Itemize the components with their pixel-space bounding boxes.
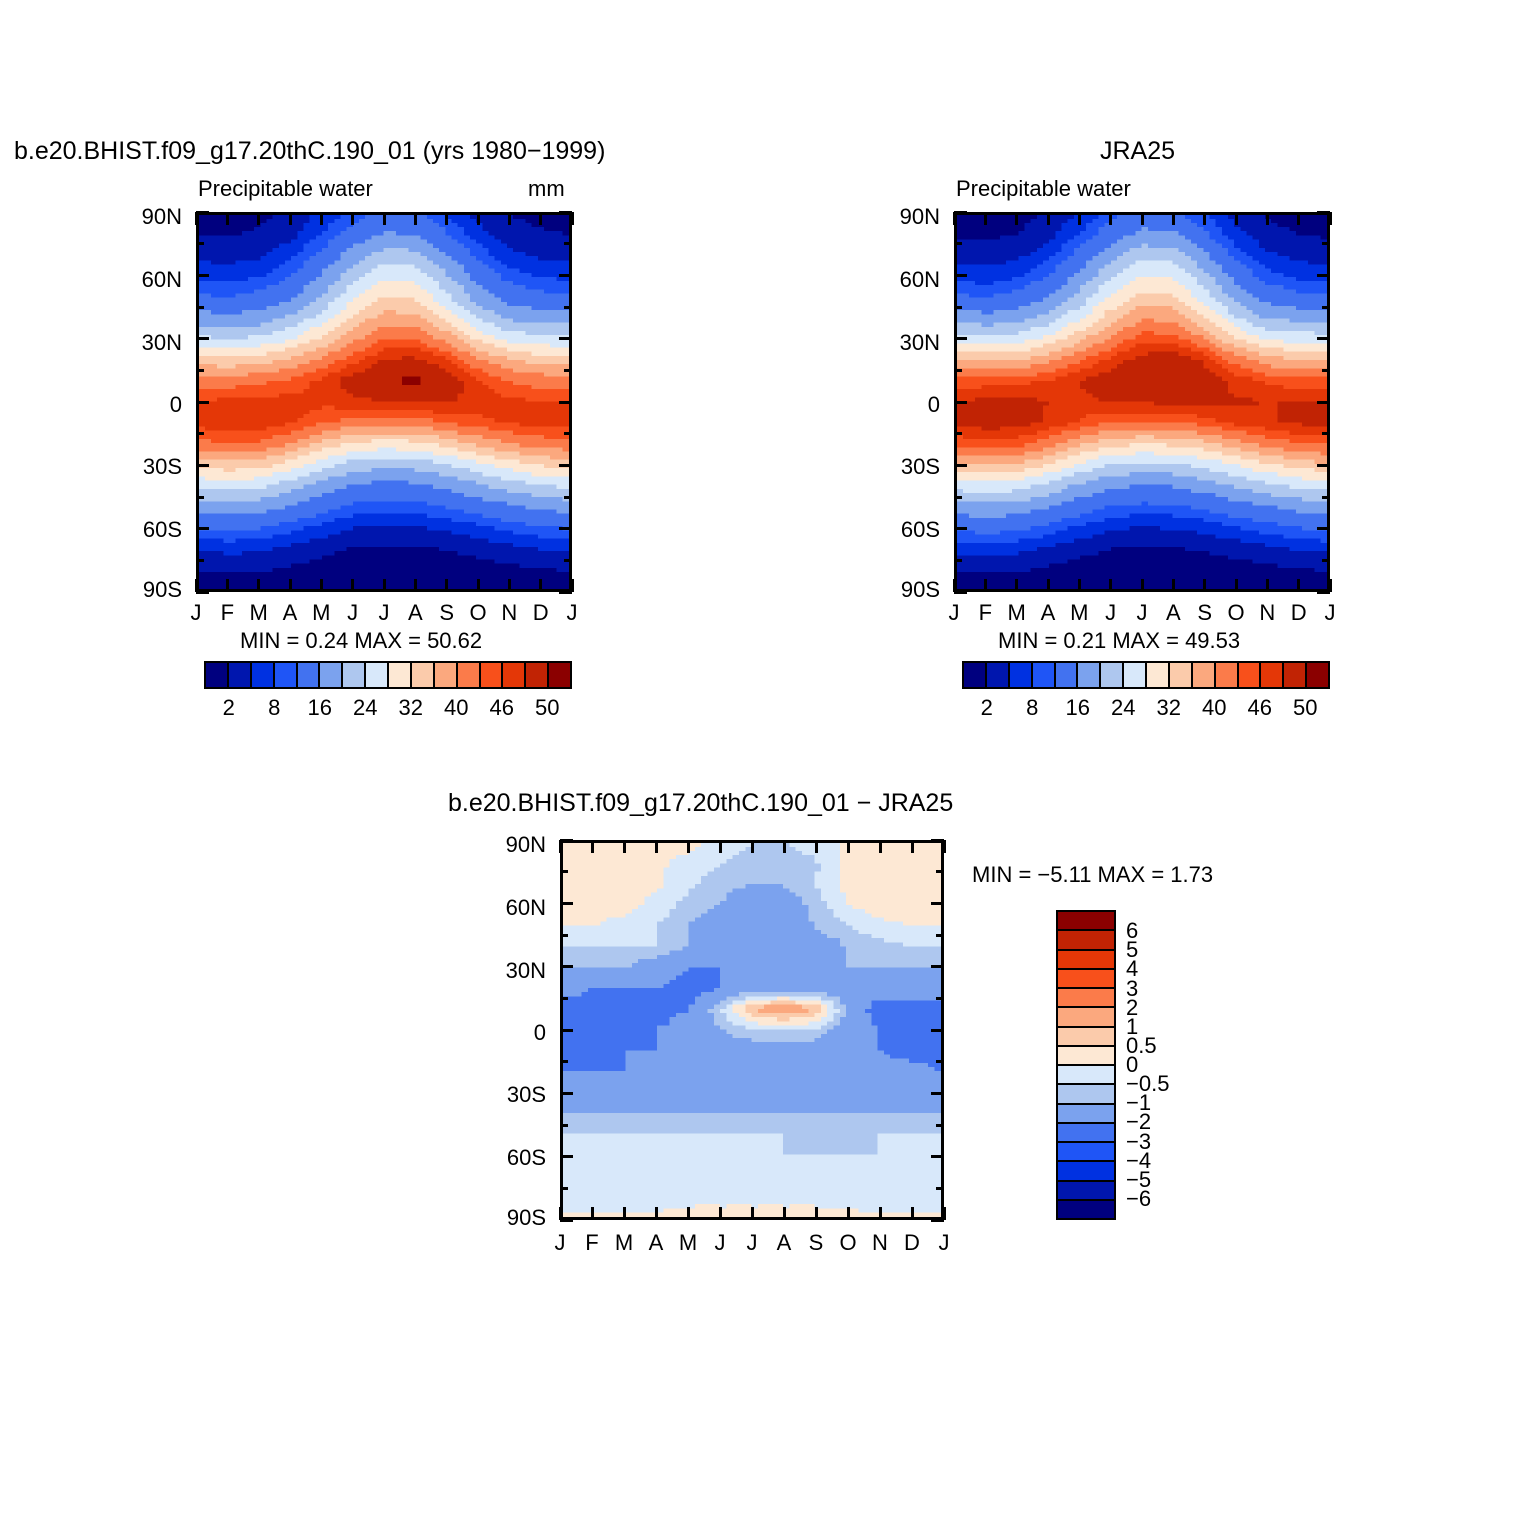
axis-tick-minor [936,934,944,937]
colorbar-cell [1058,1085,1114,1104]
colorbar-cell [366,663,389,687]
xtick-label: M [1070,600,1088,626]
colorbar-cell [1058,1182,1114,1201]
axis-tick [539,212,542,225]
axis-tick [953,212,956,225]
colorbar-cell [1193,663,1216,687]
axis-tick [954,337,967,340]
colorbar-obs[interactable] [962,661,1330,689]
axis-tick [879,1207,882,1220]
axis-tick [984,212,987,225]
ytick-label: 30N [484,958,546,984]
ytick-label: 0 [120,392,182,418]
axis-tick [911,840,914,853]
colorbar-cell [343,663,366,687]
axis-tick [195,212,198,225]
ytick-label: 0 [878,392,940,418]
axis-tick [559,464,572,467]
axis-tick [931,1155,944,1158]
ytick-label: 90S [484,1205,546,1231]
colorbar-tick-label: 16 [1066,695,1090,721]
ytick-label: 30N [878,330,940,356]
colorbar-tick-label: 2 [981,695,993,721]
plot-area-obs[interactable] [954,212,1330,592]
ytick-label: 60N [484,895,546,921]
axis-tick-minor [196,306,204,309]
axis-tick [783,840,786,853]
axis-tick [477,212,480,225]
axis-tick [560,839,573,842]
colorbar-cell [298,663,321,687]
colorbar-cell [1216,663,1239,687]
axis-tick [320,212,323,225]
axis-tick [196,337,209,340]
ytick-label: 60N [120,267,182,293]
axis-tick-minor [196,432,204,435]
axis-tick [954,591,967,594]
axis-tick [1015,579,1018,592]
panel-model-subtitle: Precipitable water [198,176,373,202]
axis-tick [196,527,209,530]
panel-obs-subtitle: Precipitable water [956,176,1131,202]
panel-model-units: mm [528,176,565,202]
axis-tick [623,840,626,853]
xtick-label: M [249,600,267,626]
xtick-label: J [191,600,202,626]
axis-tick-minor [196,369,204,372]
colorbar-cell [412,663,435,687]
colorbar-cell [389,663,412,687]
axis-tick [1047,212,1050,225]
axis-tick-minor [954,432,962,435]
minmax-obs: MIN = 0.21 MAX = 49.53 [998,628,1240,654]
colorbar-cell [1058,1124,1114,1143]
axis-tick [257,579,260,592]
axis-tick [559,527,572,530]
xtick-label: O [839,1230,856,1256]
xtick-label: S [809,1230,824,1256]
colorbar-tick-label: 40 [444,695,468,721]
colorbar-cell [549,663,570,687]
colorbar-tick-label: 8 [1026,695,1038,721]
ytick-label: 30N [120,330,182,356]
colorbar-cell [1170,663,1193,687]
axis-tick [560,1029,573,1032]
colorbar-cell [1058,931,1114,950]
ytick-label: 30S [484,1082,546,1108]
panel-diff-title: b.e20.BHIST.f09_g17.20thC.190_01 − JRA25 [448,789,953,818]
xtick-label: N [872,1230,888,1256]
colorbar-cell [1058,1066,1114,1085]
axis-tick [1141,212,1144,225]
colorbar-tick-label: 50 [1293,695,1317,721]
axis-tick [931,1219,944,1222]
axis-tick [623,1207,626,1220]
colorbar-cell [1058,951,1114,970]
colorbar-cell [1058,989,1114,1008]
colorbar-cell [503,663,526,687]
axis-tick-minor [1322,242,1330,245]
axis-tick [931,1029,944,1032]
colorbar-tick-label: 8 [268,695,280,721]
axis-tick-minor [1322,432,1330,435]
colorbar-tick-label: 16 [308,695,332,721]
xtick-label: A [1041,600,1056,626]
axis-tick [931,1092,944,1095]
axis-tick [289,579,292,592]
xtick-label: O [469,600,486,626]
colorbar-cell [1307,663,1328,687]
colorbar-cell [964,663,987,687]
colorbar-cell [1033,663,1056,687]
axis-tick-minor [954,306,962,309]
axis-tick-minor [936,997,944,1000]
axis-tick [414,579,417,592]
xtick-label: J [347,600,358,626]
panel-obs-title: JRA25 [1100,137,1175,166]
minmax-diff: MIN = −5.11 MAX = 1.73 [972,862,1213,888]
colorbar-cell [1058,1047,1114,1066]
ytick-label: 30S [878,454,940,480]
colorbar-diff[interactable] [1056,910,1116,1220]
contour-field-diff [563,843,941,1217]
ytick-label: 90S [878,577,940,603]
axis-tick [559,337,572,340]
xtick-label: F [979,600,992,626]
axis-tick [320,579,323,592]
axis-tick [847,1207,850,1220]
colorbar-model[interactable] [204,661,572,689]
xtick-label: M [1007,600,1025,626]
axis-tick [1078,212,1081,225]
colorbar-cell [1124,663,1147,687]
axis-tick [1047,579,1050,592]
axis-tick [1235,579,1238,592]
axis-tick-minor [936,1187,944,1190]
axis-tick [954,401,967,404]
axis-tick [815,840,818,853]
axis-tick [560,1092,573,1095]
axis-tick [196,211,209,214]
axis-tick [1317,401,1330,404]
axis-tick [559,840,562,853]
xtick-label: A [283,600,298,626]
axis-tick [687,840,690,853]
axis-tick [477,579,480,592]
xtick-label: A [408,600,423,626]
axis-tick [815,1207,818,1220]
colorbar-tick-label: 32 [399,695,423,721]
axis-tick [383,212,386,225]
xtick-label: J [715,1230,726,1256]
colorbar-cell [481,663,504,687]
colorbar-cell [1058,912,1114,931]
axis-tick [719,840,722,853]
axis-tick [751,1207,754,1220]
colorbar-cell [252,663,275,687]
axis-tick [751,840,754,853]
axis-tick-minor [936,1124,944,1127]
colorbar-tick-label: 40 [1202,695,1226,721]
axis-tick-minor [954,242,962,245]
colorbar-cell [1058,1201,1114,1218]
axis-tick [1141,579,1144,592]
colorbar-cell [206,663,229,687]
axis-tick-minor [560,997,568,1000]
axis-tick [719,1207,722,1220]
axis-tick [351,212,354,225]
axis-tick [560,1155,573,1158]
colorbar-cell [1261,663,1284,687]
xtick-label: A [777,1230,792,1256]
axis-tick [508,579,511,592]
xtick-label: J [1325,600,1336,626]
axis-tick [1317,211,1330,214]
xtick-label: M [615,1230,633,1256]
axis-tick-minor [1322,496,1330,499]
axis-tick [1109,579,1112,592]
axis-tick-minor [564,496,572,499]
xtick-label: A [649,1230,664,1256]
ytick-label: 60S [878,517,940,543]
axis-tick [1317,527,1330,530]
ytick-label: 60N [878,267,940,293]
axis-tick [539,579,542,592]
ytick-label: 90N [484,832,546,858]
plot-area-diff[interactable] [560,840,944,1220]
ytick-label: 90N [878,204,940,230]
axis-tick [1297,579,1300,592]
colorbar-cell [1058,1162,1114,1181]
colorbar-cell [1058,1028,1114,1047]
axis-tick [196,401,209,404]
axis-tick [226,212,229,225]
colorbar-cell [987,663,1010,687]
colorbar-tick-label: 24 [1111,695,1135,721]
axis-tick [196,591,209,594]
axis-tick-minor [954,559,962,562]
colorbar-cell [320,663,343,687]
xtick-label: J [567,600,578,626]
axis-tick [257,212,260,225]
axis-tick [196,464,209,467]
axis-tick-minor [936,870,944,873]
axis-tick [783,1207,786,1220]
axis-tick-minor [560,1124,568,1127]
axis-tick [1317,464,1330,467]
colorbar-tick-label: 50 [535,695,559,721]
colorbar-cell [1239,663,1262,687]
axis-tick [1078,579,1081,592]
xtick-label: F [221,600,234,626]
axis-tick [931,965,944,968]
colorbar-cell [1078,663,1101,687]
axis-tick [445,579,448,592]
xtick-label: F [585,1230,598,1256]
axis-tick [196,274,209,277]
axis-tick [1317,337,1330,340]
axis-tick [1317,591,1330,594]
axis-tick [559,211,572,214]
axis-tick-minor [196,559,204,562]
axis-tick-minor [954,496,962,499]
axis-tick [687,1207,690,1220]
axis-tick [1015,212,1018,225]
axis-tick [911,1207,914,1220]
axis-tick [1297,212,1300,225]
ytick-label: 0 [484,1020,546,1046]
axis-tick [226,579,229,592]
colorbar-cell [1058,1143,1114,1162]
axis-tick [559,274,572,277]
axis-tick-minor [564,369,572,372]
panel-model-title: b.e20.BHIST.f09_g17.20thC.190_01 (yrs 19… [14,137,605,166]
colorbar-cell [1058,970,1114,989]
axis-tick [655,1207,658,1220]
ytick-label: 30S [120,454,182,480]
colorbar-tick-label: 46 [1248,695,1272,721]
colorbar-cell [275,663,298,687]
axis-tick [1203,579,1206,592]
colorbar-cell [458,663,481,687]
xtick-label: J [939,1230,950,1256]
axis-tick [1317,274,1330,277]
axis-tick-minor [564,242,572,245]
axis-tick [1266,212,1269,225]
axis-tick-minor [196,242,204,245]
axis-tick [559,401,572,404]
axis-tick [571,212,574,225]
xtick-label: N [501,600,517,626]
colorbar-cell [229,663,252,687]
xtick-label: J [555,1230,566,1256]
ytick-label: 90S [120,577,182,603]
ytick-label: 90N [120,204,182,230]
colorbar-tick-label: −6 [1126,1186,1151,1212]
minmax-model: MIN = 0.24 MAX = 50.62 [240,628,482,654]
xtick-label: J [1105,600,1116,626]
ytick-label: 60S [120,517,182,543]
colorbar-cell [1284,663,1307,687]
axis-tick [943,840,946,853]
axis-tick [954,527,967,530]
axis-tick [1172,579,1175,592]
axis-tick-minor [560,1187,568,1190]
axis-tick [931,902,944,905]
axis-tick [1172,212,1175,225]
xtick-label: M [679,1230,697,1256]
axis-tick [1109,212,1112,225]
colorbar-tick-label: 2 [223,695,235,721]
xtick-label: A [1166,600,1181,626]
xtick-label: O [1227,600,1244,626]
contour-field-obs [957,215,1327,589]
xtick-label: D [533,600,549,626]
axis-tick [383,579,386,592]
axis-tick-minor [1322,369,1330,372]
colorbar-tick-label: 46 [490,695,514,721]
axis-tick [1235,212,1238,225]
axis-tick-minor [560,1060,568,1063]
axis-tick-minor [1322,306,1330,309]
xtick-label: D [904,1230,920,1256]
axis-tick [351,579,354,592]
colorbar-cell [1147,663,1170,687]
axis-tick [560,1219,573,1222]
plot-area-model[interactable] [196,212,572,592]
axis-tick [655,840,658,853]
colorbar-tick-label: 32 [1157,695,1181,721]
axis-tick-minor [564,432,572,435]
xtick-label: S [439,600,454,626]
axis-tick [508,212,511,225]
xtick-label: J [747,1230,758,1256]
axis-tick [445,212,448,225]
axis-tick-minor [560,870,568,873]
xtick-label: N [1259,600,1275,626]
axis-tick [1266,579,1269,592]
axis-tick-minor [196,496,204,499]
xtick-label: J [1137,600,1148,626]
axis-tick [984,579,987,592]
colorbar-cell [1010,663,1033,687]
colorbar-cell [1056,663,1079,687]
contour-field-model [199,215,569,589]
axis-tick [847,840,850,853]
axis-tick [414,212,417,225]
axis-tick [591,840,594,853]
axis-tick [931,839,944,842]
axis-tick [560,965,573,968]
axis-tick-minor [560,934,568,937]
xtick-label: J [949,600,960,626]
axis-tick [954,274,967,277]
xtick-label: J [379,600,390,626]
xtick-label: S [1197,600,1212,626]
axis-tick-minor [1322,559,1330,562]
axis-tick [591,1207,594,1220]
axis-tick [954,464,967,467]
xtick-label: M [312,600,330,626]
colorbar-tick-label: 24 [353,695,377,721]
colorbar-cell [1058,1105,1114,1124]
axis-tick [1203,212,1206,225]
colorbar-cell [435,663,458,687]
axis-tick-minor [564,559,572,562]
axis-tick-minor [564,306,572,309]
axis-tick [1329,212,1332,225]
axis-tick [559,591,572,594]
ytick-label: 60S [484,1145,546,1171]
colorbar-cell [526,663,549,687]
axis-tick [879,840,882,853]
colorbar-cell [1058,1008,1114,1027]
axis-tick-minor [954,369,962,372]
colorbar-cell [1101,663,1124,687]
axis-tick-minor [936,1060,944,1063]
axis-tick [560,902,573,905]
axis-tick [289,212,292,225]
axis-tick [954,211,967,214]
xtick-label: D [1291,600,1307,626]
